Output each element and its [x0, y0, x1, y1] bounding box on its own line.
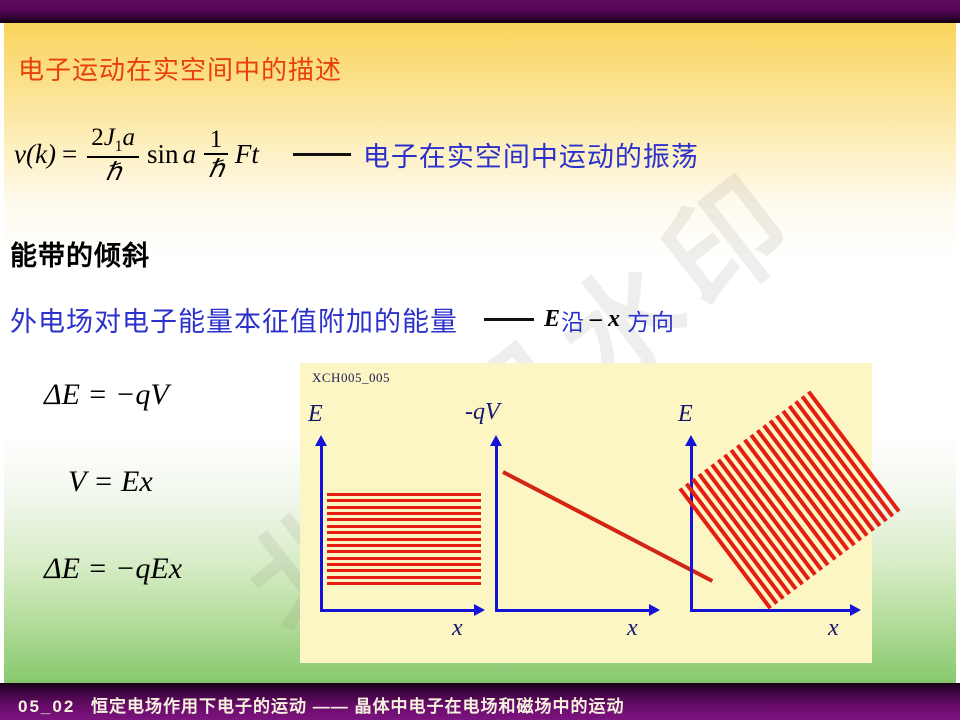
chart1-band-group: [327, 493, 481, 585]
chart3-y-axis-label: E: [678, 401, 693, 428]
energy-level-line: [327, 563, 481, 566]
field-minus-sign: –: [590, 306, 603, 333]
energy-level-line: [327, 493, 481, 496]
fraction-2J1a-over-hbar: 2J1a ℏ: [87, 125, 139, 185]
chart1-x-arrowhead: [474, 604, 485, 616]
chart1-x-axis-label: x: [452, 615, 463, 642]
em-dash-rule-2: [484, 318, 534, 321]
energy-level-line: [327, 557, 481, 560]
chart2-y-axis: [495, 443, 498, 612]
em-dash-rule-1: [293, 153, 351, 156]
energy-level-line: [327, 582, 481, 585]
fraction-numerator: 2J1a: [87, 125, 139, 156]
equation-v-ex: V = Ex: [68, 465, 153, 499]
chart3-x-axis-label: x: [828, 615, 839, 642]
energy-level-line: [327, 518, 481, 521]
field-statement-text: 外电场对电子能量本征值附加的能量: [10, 300, 458, 339]
velocity-equation-row: v(k) = 2J1a ℏ sin a 1 ℏ Ft 电子在实空间中运动的振荡: [14, 125, 699, 185]
energy-level-line: [327, 576, 481, 579]
field-statement-row: 外电场对电子能量本征值附加的能量 E 沿 – x 方向: [10, 300, 675, 339]
chart3-x-axis: [690, 609, 852, 612]
sin-argument: a: [183, 139, 197, 170]
energy-level-line: [327, 569, 481, 572]
field-direction-label: 方向: [627, 303, 675, 337]
field-along-label: 沿: [561, 303, 585, 337]
energy-level-line: [327, 525, 481, 528]
energy-level-line: [327, 550, 481, 553]
velocity-annotation: 电子在实空间中运动的振荡: [363, 135, 699, 174]
page-title: 电子运动在实空间中的描述: [18, 50, 342, 87]
numerator-a: a: [123, 124, 136, 151]
field-symbol-E: E: [544, 306, 561, 333]
footer-code: 05_02: [18, 697, 75, 716]
equation-lhs: v(k): [14, 139, 56, 170]
fraction2-numerator: 1: [206, 127, 227, 153]
numerator-subscript: 1: [115, 138, 123, 155]
equation-delta-e-qv: ΔE = −qV: [44, 378, 169, 412]
field-symbol-x: x: [608, 306, 621, 333]
chart2-y-axis-label: -qV: [465, 399, 500, 426]
chart3-band-group: [678, 390, 900, 609]
energy-level-line: [327, 531, 481, 534]
equation-delta-e-qex: ΔE = −qEx: [44, 552, 182, 586]
energy-level-line: [327, 499, 481, 502]
chart2-x-axis-label: x: [627, 615, 638, 642]
fraction-denominator: ℏ: [101, 158, 125, 185]
fraction2-denominator: ℏ: [204, 155, 228, 182]
footer-title: 恒定电场作用下电子的运动 —— 晶体中电子在电场和磁场中的运动: [91, 697, 624, 716]
chart1-y-axis-label: E: [308, 401, 323, 428]
figure-label: XCH005_005: [312, 370, 390, 386]
energy-level-line: [327, 544, 481, 547]
equation-equals: =: [62, 139, 77, 170]
chart3-y-axis: [690, 443, 693, 612]
numerator-J: J: [104, 124, 115, 151]
chart2-x-arrowhead: [649, 604, 660, 616]
section-heading: 能带的倾斜: [10, 234, 150, 273]
equation-tail-Ft: Ft: [235, 139, 259, 170]
energy-level-line: [327, 538, 481, 541]
chart1-y-axis: [320, 443, 323, 612]
sin-operator: sin: [147, 139, 179, 170]
energy-level-line: [327, 506, 481, 509]
chart2-x-axis: [495, 609, 651, 612]
numerator-coefficient: 2: [91, 124, 104, 151]
slide-root: 北会员水印 电子运动在实空间中的描述 v(k) = 2J1a ℏ sin a 1…: [0, 0, 960, 720]
chart1-x-axis: [320, 609, 476, 612]
chart3-x-arrowhead: [850, 604, 861, 616]
footer-content: 05_02 恒定电场作用下电子的运动 —— 晶体中电子在电场和磁场中的运动: [18, 692, 624, 717]
top-decoration-band: [0, 0, 960, 23]
fraction-1-over-hbar: 1 ℏ: [204, 127, 228, 182]
energy-level-line: [327, 512, 481, 515]
figure-panel: XCH005_005 E x -qV x E: [300, 363, 872, 663]
